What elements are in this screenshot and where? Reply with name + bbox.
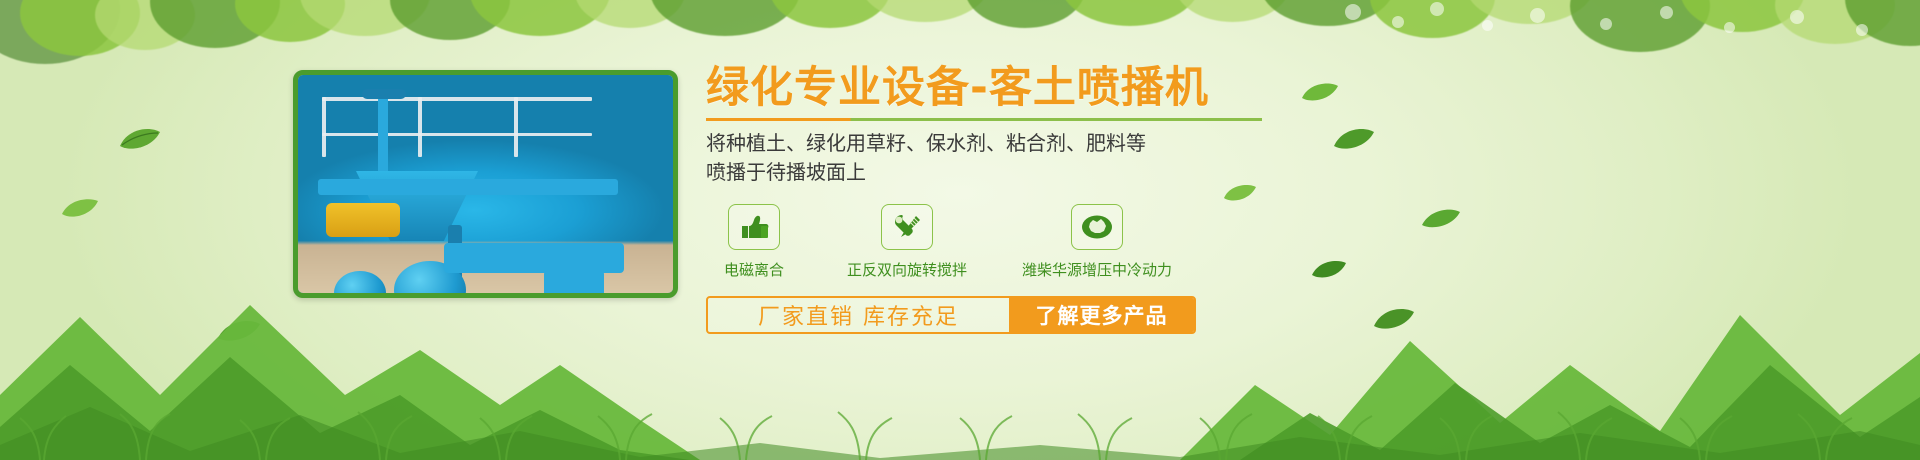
subtitle-line-1: 将种植土、绿化用草籽、保水剂、粘合剂、肥料等 [706, 129, 1306, 157]
feature-label: 电磁离合 [706, 259, 802, 280]
leaf-icon [1420, 206, 1462, 231]
subtitle-line-2: 喷播于待播坡面上 [706, 158, 1306, 186]
title-divider [706, 118, 1262, 121]
grass-decoration [0, 370, 1920, 460]
cta-bar: 厂家直销 库存充足 了解更多产品 [706, 296, 1196, 334]
feature-item-bidirectional-mixing: 正反双向旋转搅拌 [832, 204, 982, 280]
product-photo [293, 70, 678, 298]
learn-more-button[interactable]: 了解更多产品 [1009, 298, 1194, 332]
promo-banner: 绿化专业设备-客土喷播机 将种植土、绿化用草籽、保水剂、粘合剂、肥料等 喷播于待… [0, 0, 1920, 460]
thumbs-up-icon [728, 204, 780, 250]
feature-label: 潍柴华源增压中冷动力 [1012, 259, 1182, 280]
feature-item-weichai-engine: 潍柴华源增压中冷动力 [1012, 204, 1182, 280]
leaf-icon [1332, 126, 1376, 152]
leaf-icon [118, 126, 162, 152]
feature-list: 电磁离合 正反双向旋转搅拌 [706, 204, 1306, 280]
leaf-icon [1300, 80, 1340, 104]
page-title: 绿化专业设备-客土喷播机 [706, 64, 1306, 112]
leaf-icon [60, 196, 100, 220]
feature-item-electromagnetic-clutch: 电磁离合 [706, 204, 802, 280]
cta-tagline: 厂家直销 库存充足 [708, 298, 1009, 332]
banner-content: 绿化专业设备-客土喷播机 将种植土、绿化用草籽、保水剂、粘合剂、肥料等 喷播于待… [706, 64, 1306, 334]
engine-gear-icon [1071, 204, 1123, 250]
wrench-screwdriver-icon [881, 204, 933, 250]
feature-label: 正反双向旋转搅拌 [832, 259, 982, 280]
